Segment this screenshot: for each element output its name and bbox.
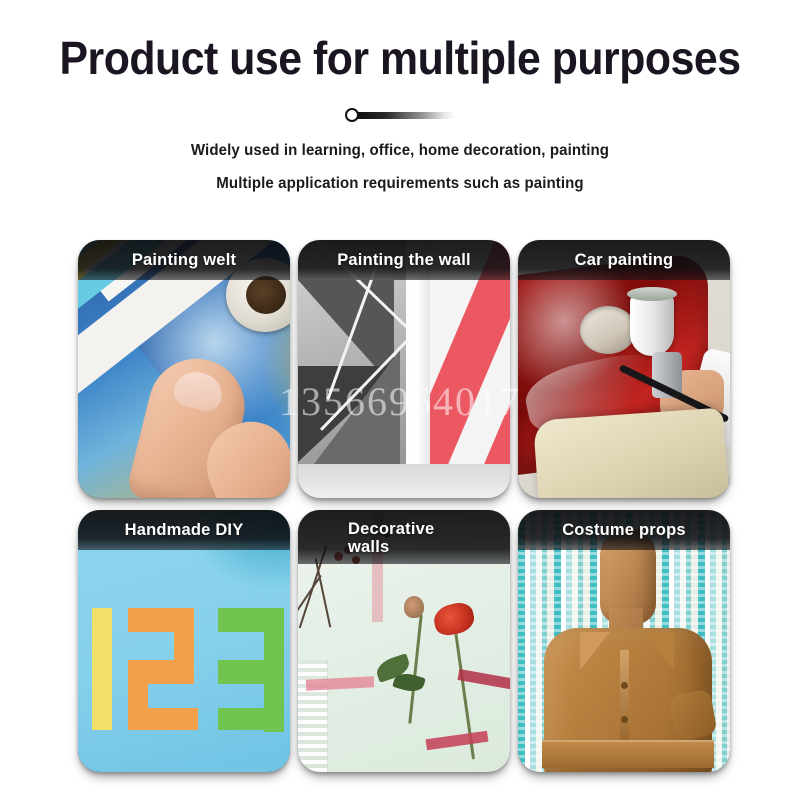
- use-case-card-decorative-walls[interactable]: Decorative walls: [298, 510, 510, 772]
- page-title: Product use for multiple purposes: [28, 34, 772, 82]
- card-label: Painting the wall: [298, 240, 510, 280]
- card-label: Handmade DIY: [78, 510, 290, 550]
- card-label: Decorative walls: [298, 510, 510, 564]
- use-case-card-handmade-diy[interactable]: Handmade DIY: [78, 510, 290, 772]
- product-feature-poster: Product use for multiple purposes Widely…: [0, 0, 800, 800]
- spray-gun-cup: [630, 294, 674, 356]
- circle-icon: [345, 108, 359, 122]
- card-label: Costume props: [518, 510, 730, 550]
- card-label: Painting welt: [78, 240, 290, 280]
- use-case-card-costume-props[interactable]: Costume props: [518, 510, 730, 772]
- use-case-card-painting-the-wall[interactable]: Painting the wall: [298, 240, 510, 498]
- dried-rose: [431, 600, 476, 638]
- card-label: Car painting: [518, 240, 730, 280]
- use-case-card-painting-welt[interactable]: Painting welt: [78, 240, 290, 498]
- masking-paper: [533, 407, 729, 498]
- use-case-grid: Painting welt Painting the wall: [78, 240, 730, 772]
- poster-header: Product use for multiple purposes Widely…: [0, 0, 800, 193]
- use-case-card-car-painting[interactable]: Car painting: [518, 240, 730, 498]
- subtitle-line-1: Widely used in learning, office, home de…: [12, 142, 788, 160]
- decorative-divider: [345, 108, 455, 122]
- subtitle-line-2: Multiple application requirements such a…: [12, 175, 788, 193]
- gradient-bar: [357, 112, 455, 119]
